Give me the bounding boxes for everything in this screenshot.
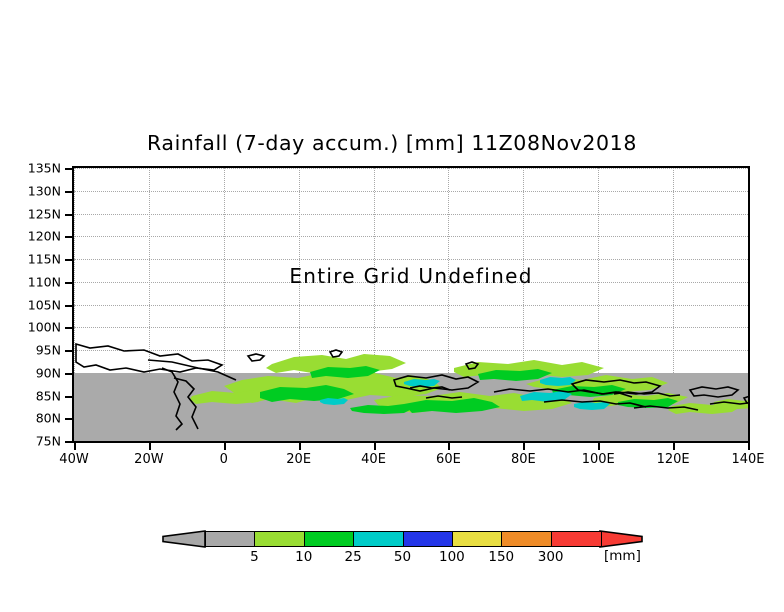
x-tick-mark: [149, 443, 151, 450]
y-tick-mark: [65, 418, 72, 420]
x-tick-mark: [299, 443, 301, 450]
y-tick-label: 90N: [0, 365, 61, 380]
x-tick-label: 0: [220, 452, 228, 467]
y-tick-label: 130N: [0, 183, 61, 198]
colorbar-segment[interactable]: [353, 531, 404, 547]
colorbar-segment[interactable]: [304, 531, 355, 547]
x-tick-mark: [523, 443, 525, 450]
x-tick-mark: [673, 443, 675, 450]
x-tick-label: 120E: [657, 452, 690, 467]
colorbar-tick-label: 50: [394, 549, 411, 565]
y-tick-mark: [65, 214, 72, 216]
colorbar-segment[interactable]: [205, 531, 256, 547]
x-tick-mark: [74, 443, 76, 450]
colorbar-segment[interactable]: [501, 531, 552, 547]
colorbar-arrow-under: [163, 531, 205, 547]
y-tick-label: 105N: [0, 297, 61, 312]
colorbar-tick-label: 5: [250, 549, 259, 565]
x-tick-label: 20E: [286, 452, 311, 467]
x-tick-label: 60E: [436, 452, 461, 467]
y-tick-mark: [65, 396, 72, 398]
colorbar-tick-label: 150: [488, 549, 514, 565]
x-tick-label: 100E: [582, 452, 615, 467]
y-tick-label: 110N: [0, 274, 61, 289]
y-tick-mark: [65, 191, 72, 193]
colorbar-tick-label: 10: [295, 549, 312, 565]
y-tick-mark: [65, 236, 72, 238]
colorbar-tick-label: 300: [538, 549, 564, 565]
colorbar-segment[interactable]: [551, 531, 602, 547]
chart-title: Rainfall (7-day accum.) [mm] 11Z08Nov201…: [0, 131, 784, 155]
y-tick-label: 115N: [0, 252, 61, 267]
x-tick-mark: [448, 443, 450, 450]
x-tick-label: 20W: [134, 452, 163, 467]
entire-grid-undefined-label: Entire Grid Undefined: [74, 264, 748, 288]
y-tick-label: 85N: [0, 388, 61, 403]
x-tick-label: 140E: [731, 452, 764, 467]
x-tick-mark: [598, 443, 600, 450]
y-tick-mark: [65, 441, 72, 443]
y-tick-label: 100N: [0, 320, 61, 335]
y-tick-label: 120N: [0, 229, 61, 244]
colorbar-tick-label: 25: [345, 549, 362, 565]
colorbar-segment[interactable]: [403, 531, 454, 547]
y-tick-mark: [65, 327, 72, 329]
x-tick-mark: [224, 443, 226, 450]
gridline-horizontal: [74, 441, 748, 442]
plot-inner: Entire Grid Undefined: [74, 168, 748, 441]
colorbar-units-label: [mm]: [604, 548, 641, 564]
y-tick-mark: [65, 168, 72, 170]
y-tick-mark: [65, 282, 72, 284]
y-tick-mark: [65, 305, 72, 307]
y-tick-mark: [65, 373, 72, 375]
y-tick-label: 135N: [0, 161, 61, 176]
chart-canvas: Rainfall (7-day accum.) [mm] 11Z08Nov201…: [0, 0, 784, 612]
colorbar-segment[interactable]: [254, 531, 305, 547]
x-tick-mark: [374, 443, 376, 450]
x-tick-label: 40W: [59, 452, 88, 467]
colorbar-arrow-over: [600, 531, 642, 547]
x-tick-mark: [748, 443, 750, 450]
y-tick-mark: [65, 350, 72, 352]
map-data-layer: [74, 168, 748, 441]
x-tick-label: 40E: [361, 452, 386, 467]
colorbar-tick-label: 100: [439, 549, 465, 565]
y-tick-label: 125N: [0, 206, 61, 221]
gridline-vertical: [748, 168, 749, 441]
y-tick-label: 75N: [0, 434, 61, 449]
y-tick-label: 80N: [0, 411, 61, 426]
colorbar-segment[interactable]: [452, 531, 503, 547]
y-tick-label: 95N: [0, 343, 61, 358]
y-tick-mark: [65, 259, 72, 261]
plot-area[interactable]: Entire Grid Undefined: [72, 166, 750, 443]
x-tick-label: 80E: [511, 452, 536, 467]
